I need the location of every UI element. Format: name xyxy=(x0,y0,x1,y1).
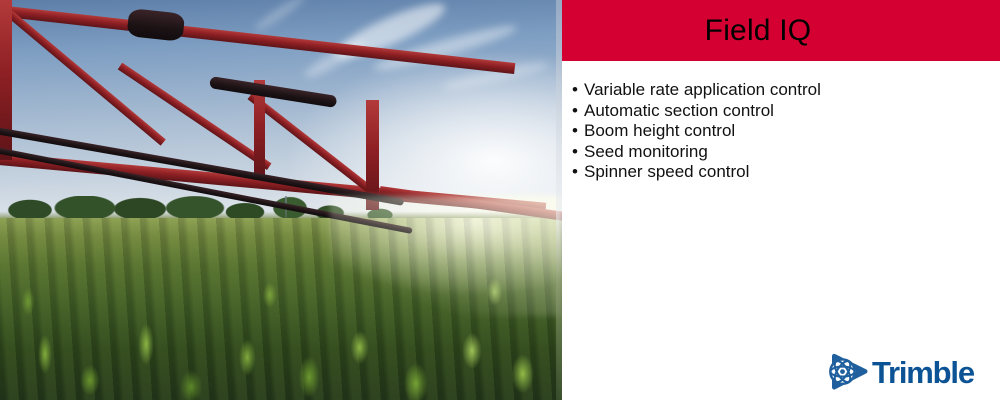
slide-canvas: Field IQ • Variable rate application con… xyxy=(0,0,1000,400)
trimble-globe-triangle-icon xyxy=(826,353,870,391)
list-item: • Automatic section control xyxy=(572,101,982,122)
list-item: • Spinner speed control xyxy=(572,162,982,183)
bullet-marker-icon: • xyxy=(572,80,578,101)
list-item-label: Seed monitoring xyxy=(584,142,708,161)
hero-photo xyxy=(0,0,562,400)
list-item: • Boom height control xyxy=(572,121,982,142)
list-item-label: Variable rate application control xyxy=(584,80,821,99)
photo-spray-mist xyxy=(330,196,562,316)
trimble-wordmark: Trimble xyxy=(872,357,974,388)
trimble-logo: Trimble xyxy=(826,350,988,394)
list-item-label: Automatic section control xyxy=(584,101,774,120)
page-title: Field IQ xyxy=(705,16,858,46)
title-bar: Field IQ xyxy=(562,0,1000,61)
bullet-marker-icon: • xyxy=(572,121,578,142)
list-item: • Variable rate application control xyxy=(572,80,982,101)
list-item-label: Boom height control xyxy=(584,121,735,140)
list-item-label: Spinner speed control xyxy=(584,162,749,181)
bullet-marker-icon: • xyxy=(572,142,578,163)
bullet-marker-icon: • xyxy=(572,101,578,122)
feature-bullet-list: • Variable rate application control • Au… xyxy=(572,80,982,183)
list-item: • Seed monitoring xyxy=(572,142,982,163)
bullet-marker-icon: • xyxy=(572,162,578,183)
